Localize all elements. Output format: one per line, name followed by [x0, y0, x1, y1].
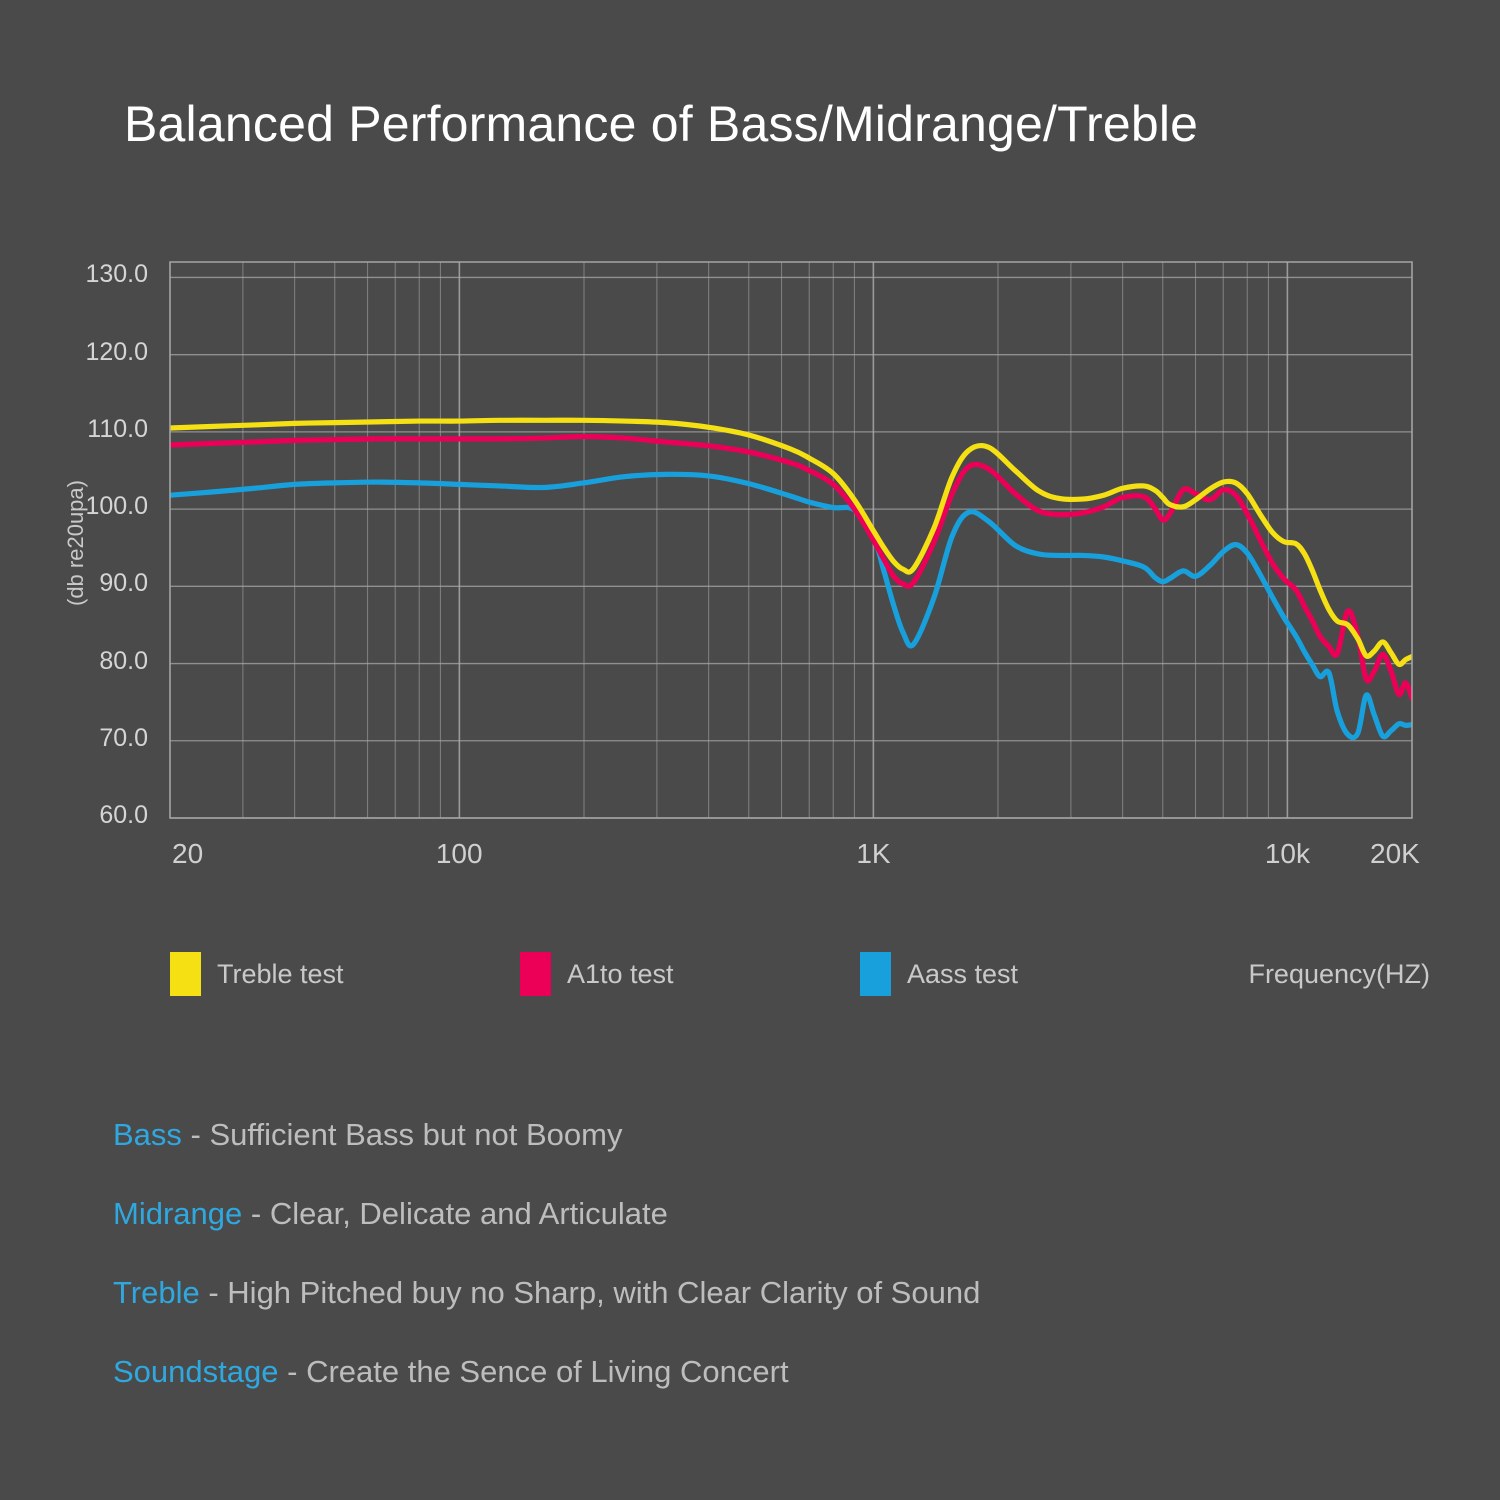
chart-page: Balanced Performance of Bass/Midrange/Tr… [0, 0, 1500, 1500]
legend-swatch-icon [520, 952, 551, 996]
legend-label: Aass test [907, 959, 1018, 990]
feature-key: Soundstage [113, 1354, 278, 1389]
legend-item[interactable]: Treble test [170, 952, 344, 996]
y-tick-label: 60.0 [38, 801, 148, 830]
feature-description: Create the Sence of Living Concert [306, 1354, 789, 1389]
y-tick-label: 130.0 [38, 260, 148, 289]
y-tick-label: 70.0 [38, 724, 148, 753]
feature-list: Bass - Sufficient Bass but not BoomyMidr… [113, 1095, 1413, 1411]
legend-item[interactable]: Aass test [860, 952, 1018, 996]
x-axis-title: Frequency(HZ) [1248, 959, 1430, 990]
chart-legend: Treble testA1to testAass test Frequency(… [170, 952, 1430, 998]
x-tick-label: 20 [172, 838, 203, 870]
legend-swatch-icon [860, 952, 891, 996]
plot-border [170, 262, 1412, 818]
feature-separator: - [251, 1196, 261, 1231]
legend-item[interactable]: A1to test [520, 952, 674, 996]
feature-key: Treble [113, 1275, 200, 1310]
y-axis-title: (db re20upa) [63, 423, 89, 663]
series-a1to-test [170, 437, 1412, 699]
x-tick-label: 100 [436, 838, 483, 870]
x-tick-label: 10k [1265, 838, 1310, 870]
y-tick-label: 100.0 [38, 492, 148, 521]
feature-row: Soundstage - Create the Sence of Living … [113, 1332, 1413, 1411]
series-lines [170, 420, 1412, 737]
feature-separator: - [208, 1275, 218, 1310]
feature-key: Bass [113, 1117, 182, 1152]
feature-row: Bass - Sufficient Bass but not Boomy [113, 1095, 1413, 1174]
x-tick-label: 20K [1370, 838, 1420, 870]
legend-label: A1to test [567, 959, 674, 990]
feature-row: Midrange - Clear, Delicate and Articulat… [113, 1174, 1413, 1253]
series-treble-test [170, 420, 1412, 664]
grid-lines [170, 262, 1412, 818]
feature-description: Sufficient Bass but not Boomy [210, 1117, 623, 1152]
legend-swatch-icon [170, 952, 201, 996]
feature-separator: - [191, 1117, 201, 1152]
x-tick-label: 1K [856, 838, 890, 870]
y-tick-label: 90.0 [38, 569, 148, 598]
y-tick-label: 120.0 [38, 338, 148, 367]
feature-description: Clear, Delicate and Articulate [270, 1196, 668, 1231]
y-tick-label: 110.0 [38, 415, 148, 444]
legend-label: Treble test [217, 959, 344, 990]
y-tick-label: 80.0 [38, 647, 148, 676]
feature-description: High Pitched buy no Sharp, with Clear Cl… [227, 1275, 980, 1310]
feature-row: Treble - High Pitched buy no Sharp, with… [113, 1253, 1413, 1332]
series-aass-test [170, 474, 1412, 737]
feature-separator: - [287, 1354, 297, 1389]
feature-key: Midrange [113, 1196, 242, 1231]
